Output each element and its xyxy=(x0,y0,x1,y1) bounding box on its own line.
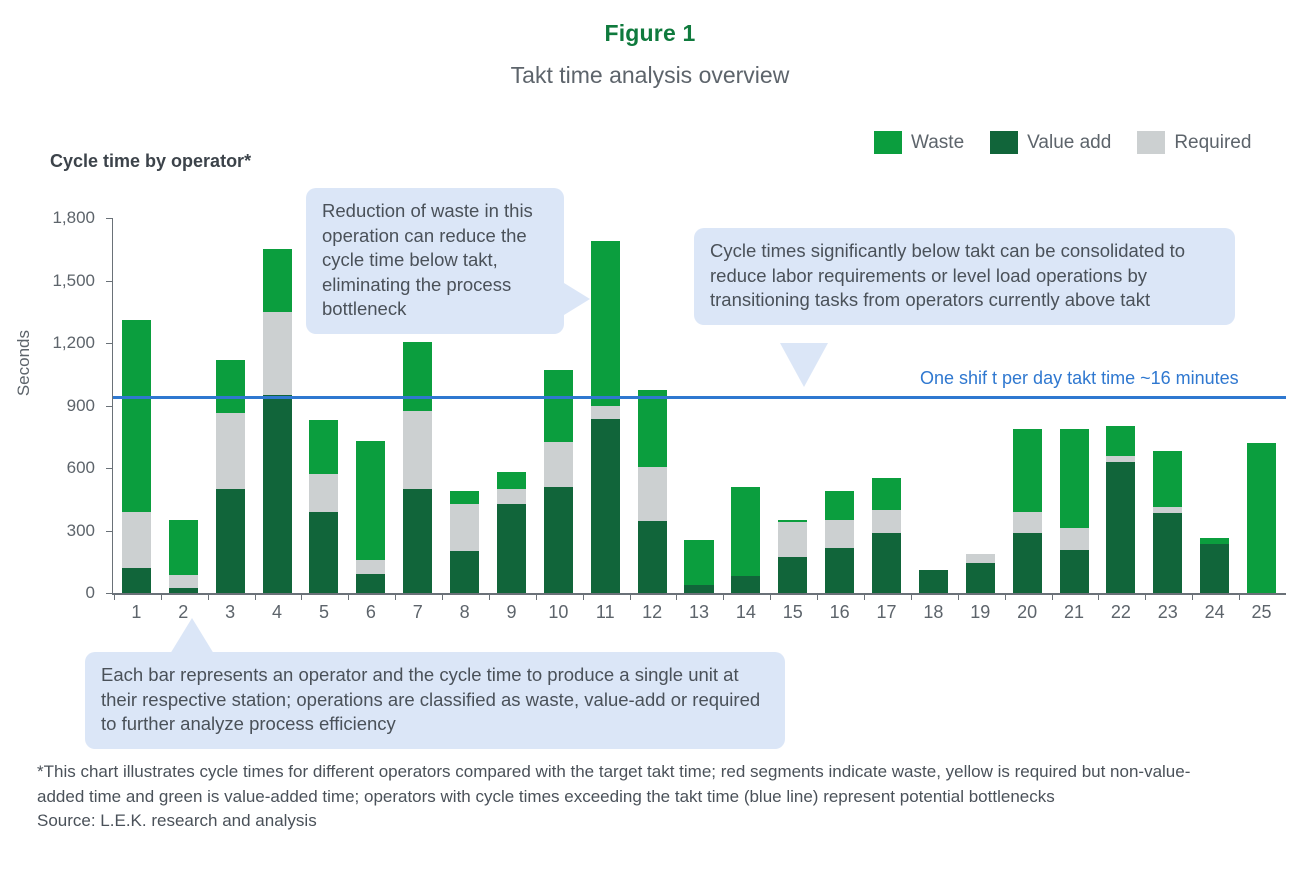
footnote-block: *This chart illustrates cycle times for … xyxy=(37,760,1217,834)
callout-bar-meaning: Each bar represents an operator and the … xyxy=(85,652,785,749)
bar-segment-waste xyxy=(1247,443,1276,593)
legend-swatch-icon xyxy=(874,131,902,154)
y-tick-mark xyxy=(106,531,113,532)
bar-operator-10[interactable] xyxy=(544,370,573,593)
callout-text: Reduction of waste in this operation can… xyxy=(322,200,533,319)
callout-waste-reduction: Reduction of waste in this operation can… xyxy=(306,188,564,334)
callout-bar-meaning-tail xyxy=(170,618,214,654)
bar-operator-16[interactable] xyxy=(825,491,854,593)
x-tick-mark xyxy=(114,593,115,600)
bar-segment-waste xyxy=(263,249,292,312)
x-tick-label-12: 12 xyxy=(629,602,676,623)
bar-operator-6[interactable] xyxy=(356,441,385,593)
callout-text: Cycle times significantly below takt can… xyxy=(710,240,1185,310)
bar-segment-waste xyxy=(544,370,573,442)
legend-item-value-add[interactable]: Value add xyxy=(990,131,1111,154)
bar-segment-waste xyxy=(638,390,667,467)
bar-operator-21[interactable] xyxy=(1060,429,1089,593)
y-tick-label: 1,800 xyxy=(25,208,95,228)
callout-waste-reduction-tail xyxy=(564,283,590,315)
callout-consolidation: Cycle times significantly below takt can… xyxy=(694,228,1235,325)
bar-segment-required xyxy=(825,520,854,548)
bar-segment-value-add xyxy=(403,489,432,593)
y-tick-mark xyxy=(106,593,113,594)
bar-operator-18[interactable] xyxy=(919,570,948,593)
bar-segment-waste xyxy=(450,491,479,505)
bar-segment-waste xyxy=(122,320,151,512)
chart-title: Cycle time by operator* xyxy=(50,151,251,172)
x-tick-mark xyxy=(208,593,209,600)
bar-segment-value-add xyxy=(825,548,854,593)
bar-segment-required xyxy=(872,510,901,533)
bar-operator-15[interactable] xyxy=(778,520,807,593)
bar-segment-waste xyxy=(872,478,901,509)
x-tick-mark xyxy=(348,593,349,600)
x-tick-mark xyxy=(1192,593,1193,600)
bar-operator-23[interactable] xyxy=(1153,451,1182,593)
bar-segment-value-add xyxy=(919,570,948,593)
bar-segment-waste xyxy=(497,472,526,489)
y-tick-label: 1,500 xyxy=(25,271,95,291)
bar-segment-value-add xyxy=(1106,462,1135,593)
x-tick-label-3: 3 xyxy=(207,602,254,623)
bar-segment-value-add xyxy=(216,489,245,593)
legend-item-required[interactable]: Required xyxy=(1137,131,1251,154)
x-tick-mark xyxy=(630,593,631,600)
bar-segment-waste xyxy=(825,491,854,520)
bar-segment-required xyxy=(169,575,198,588)
bar-segment-value-add xyxy=(544,487,573,593)
bar-segment-required xyxy=(497,489,526,505)
bar-segment-value-add xyxy=(591,419,620,593)
figure-subtitle: Takt time analysis overview xyxy=(0,62,1300,89)
bar-segment-waste xyxy=(356,441,385,560)
footnote-source: Source: L.E.K. research and analysis xyxy=(37,809,1217,834)
legend-label: Waste xyxy=(911,132,964,154)
x-tick-label-13: 13 xyxy=(676,602,723,623)
bar-operator-7[interactable] xyxy=(403,342,432,593)
takt-reference-line xyxy=(113,396,1286,399)
bar-segment-required xyxy=(1060,528,1089,550)
bar-segment-value-add xyxy=(169,588,198,593)
x-tick-label-11: 11 xyxy=(582,602,629,623)
bar-segment-required xyxy=(591,406,620,420)
bar-segment-waste xyxy=(684,540,713,585)
bar-segment-waste xyxy=(403,342,432,411)
bar-segment-required xyxy=(122,512,151,568)
bar-segment-value-add xyxy=(450,551,479,593)
bar-segment-waste xyxy=(731,487,760,577)
x-tick-label-6: 6 xyxy=(347,602,394,623)
bar-segment-value-add xyxy=(778,557,807,593)
x-tick-mark xyxy=(1145,593,1146,600)
legend-label: Required xyxy=(1174,132,1251,154)
bar-segment-required xyxy=(403,411,432,489)
callout-text: Each bar represents an operator and the … xyxy=(101,664,760,734)
x-tick-mark xyxy=(489,593,490,600)
x-tick-mark xyxy=(395,593,396,600)
bar-segment-value-add xyxy=(638,521,667,593)
x-tick-mark xyxy=(255,593,256,600)
takt-reference-label: One shif t per day takt time ~16 minutes xyxy=(920,368,1239,389)
x-tick-mark xyxy=(911,593,912,600)
bar-operator-1[interactable] xyxy=(122,320,151,593)
x-tick-mark xyxy=(301,593,302,600)
bar-operator-13[interactable] xyxy=(684,540,713,593)
bar-segment-required xyxy=(263,312,292,395)
bar-segment-value-add xyxy=(731,576,760,593)
x-tick-mark xyxy=(1098,593,1099,600)
x-tick-mark xyxy=(958,593,959,600)
legend-item-waste[interactable]: Waste xyxy=(874,131,964,154)
bar-segment-value-add xyxy=(1060,550,1089,593)
y-tick-label: 1,200 xyxy=(25,333,95,353)
legend-label: Value add xyxy=(1027,132,1111,154)
bar-segment-value-add xyxy=(1153,513,1182,593)
x-tick-label-17: 17 xyxy=(863,602,910,623)
bar-segment-waste xyxy=(309,420,338,474)
bar-operator-3[interactable] xyxy=(216,360,245,593)
x-tick-label-7: 7 xyxy=(394,602,441,623)
bar-operator-14[interactable] xyxy=(731,487,760,593)
bar-segment-waste xyxy=(1106,426,1135,455)
bar-operator-19[interactable] xyxy=(966,554,995,593)
x-tick-label-1: 1 xyxy=(113,602,160,623)
bar-segment-required xyxy=(356,560,385,575)
x-tick-mark xyxy=(1052,593,1053,600)
x-tick-label-24: 24 xyxy=(1191,602,1238,623)
x-tick-mark xyxy=(723,593,724,600)
x-tick-label-14: 14 xyxy=(722,602,769,623)
x-tick-mark xyxy=(442,593,443,600)
bar-segment-value-add xyxy=(263,395,292,593)
x-tick-label-8: 8 xyxy=(441,602,488,623)
x-tick-label-22: 22 xyxy=(1097,602,1144,623)
bar-segment-value-add xyxy=(684,585,713,593)
x-tick-label-25: 25 xyxy=(1238,602,1285,623)
x-tick-label-16: 16 xyxy=(816,602,863,623)
x-tick-mark xyxy=(817,593,818,600)
y-tick-mark xyxy=(106,406,113,407)
bar-operator-9[interactable] xyxy=(497,472,526,593)
x-axis-line xyxy=(112,593,1286,595)
bar-segment-waste xyxy=(1060,429,1089,528)
bar-segment-waste xyxy=(1013,429,1042,511)
bar-operator-11[interactable] xyxy=(591,241,620,593)
y-tick-mark xyxy=(106,343,113,344)
bar-segment-required xyxy=(638,467,667,521)
y-tick-label: 600 xyxy=(25,458,95,478)
bar-operator-22[interactable] xyxy=(1106,426,1135,593)
y-tick-mark xyxy=(106,218,113,219)
x-tick-label-18: 18 xyxy=(910,602,957,623)
bar-segment-value-add xyxy=(356,574,385,593)
x-tick-label-21: 21 xyxy=(1051,602,1098,623)
x-tick-mark xyxy=(583,593,584,600)
bar-operator-4[interactable] xyxy=(263,249,292,593)
y-tick-mark xyxy=(106,281,113,282)
bar-segment-value-add xyxy=(1200,544,1229,593)
y-tick-label: 900 xyxy=(25,396,95,416)
x-tick-mark xyxy=(676,593,677,600)
x-tick-label-15: 15 xyxy=(769,602,816,623)
x-tick-mark xyxy=(864,593,865,600)
x-tick-label-5: 5 xyxy=(301,602,348,623)
bar-segment-value-add xyxy=(1013,533,1042,593)
x-tick-label-10: 10 xyxy=(535,602,582,623)
x-tick-label-2: 2 xyxy=(160,602,207,623)
bar-segment-required xyxy=(309,474,338,512)
x-tick-mark xyxy=(770,593,771,600)
bar-operator-24[interactable] xyxy=(1200,538,1229,593)
legend-swatch-icon xyxy=(990,131,1018,154)
x-tick-mark xyxy=(1005,593,1006,600)
y-tick-label: 300 xyxy=(25,521,95,541)
figure-label: Figure 1 xyxy=(0,20,1300,47)
bar-segment-waste xyxy=(591,241,620,406)
bar-segment-value-add xyxy=(497,504,526,593)
bar-segment-waste xyxy=(169,520,198,575)
bar-segment-waste xyxy=(216,360,245,413)
bar-segment-required xyxy=(966,554,995,562)
bar-segment-waste xyxy=(1153,451,1182,506)
x-tick-label-4: 4 xyxy=(254,602,301,623)
bar-operator-8[interactable] xyxy=(450,491,479,593)
legend-swatch-icon xyxy=(1137,131,1165,154)
bar-operator-12[interactable] xyxy=(638,390,667,593)
x-tick-label-23: 23 xyxy=(1144,602,1191,623)
bar-operator-2[interactable] xyxy=(169,520,198,593)
y-tick-label: 0 xyxy=(25,583,95,603)
callout-consolidation-tail xyxy=(780,343,828,387)
footnote-note: *This chart illustrates cycle times for … xyxy=(37,760,1217,809)
x-tick-mark xyxy=(536,593,537,600)
bar-segment-required xyxy=(1013,512,1042,533)
bar-segment-value-add xyxy=(872,533,901,593)
bar-operator-25[interactable] xyxy=(1247,443,1276,593)
bar-segment-value-add xyxy=(966,563,995,593)
bar-segment-required xyxy=(778,522,807,556)
bar-operator-20[interactable] xyxy=(1013,429,1042,593)
bar-segment-required xyxy=(544,442,573,487)
chart-legend: WasteValue addRequired xyxy=(874,131,1251,154)
x-tick-mark xyxy=(1239,593,1240,600)
x-tick-mark xyxy=(161,593,162,600)
x-tick-label-20: 20 xyxy=(1004,602,1051,623)
y-tick-mark xyxy=(106,468,113,469)
x-tick-label-9: 9 xyxy=(488,602,535,623)
x-tick-label-19: 19 xyxy=(957,602,1004,623)
bar-segment-value-add xyxy=(122,568,151,593)
bar-operator-17[interactable] xyxy=(872,478,901,593)
bar-segment-required xyxy=(216,413,245,489)
bar-operator-5[interactable] xyxy=(309,420,338,593)
bar-segment-required xyxy=(450,504,479,551)
bar-segment-value-add xyxy=(309,512,338,593)
